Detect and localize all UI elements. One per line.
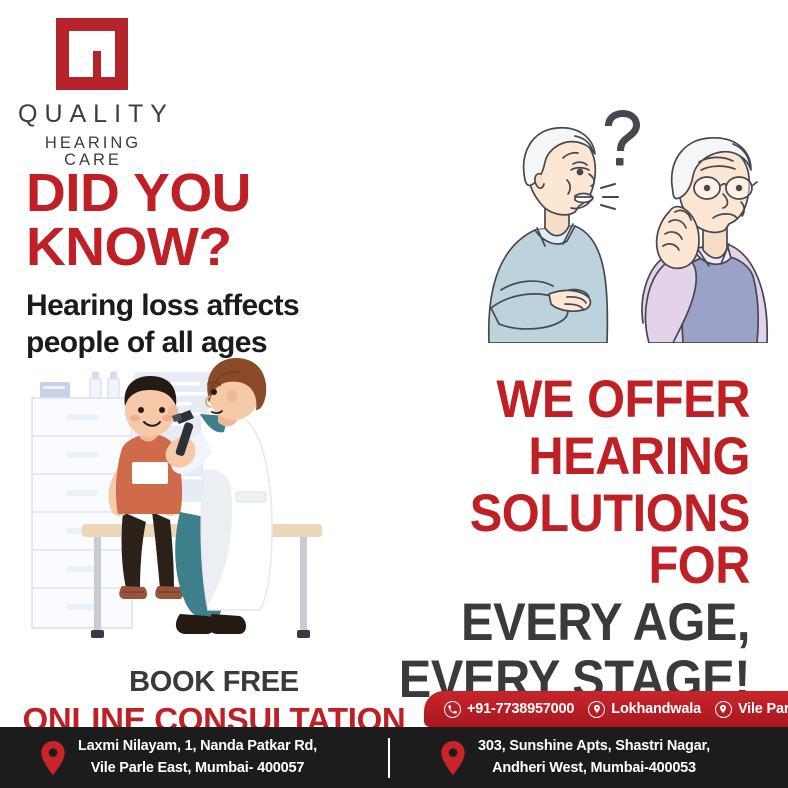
contact-phone-label: +91-7738957000	[467, 701, 574, 717]
doctor-examining-boy-ear-otoscope-illustration	[22, 352, 340, 664]
contact-location-1-label: Lokhandwala	[611, 701, 701, 717]
contact-phone[interactable]: +91-7738957000	[444, 701, 574, 718]
contact-bar: +91-7738957000 Lokhandwala Vile Parle	[424, 691, 788, 727]
contact-location-vile-parle[interactable]: Vile Parle	[715, 701, 788, 718]
footer-address-2-line2: Andheri West, Mumbai-400053	[478, 758, 710, 779]
footer-address-bar: Laxmi Nilayam, 1, Nanda Patkar Rd, Vile …	[0, 727, 788, 788]
headline-statement: Hearing loss affects people of all ages	[26, 288, 456, 361]
phone-icon	[444, 701, 461, 718]
offer-line-1: WE OFFER	[364, 374, 750, 426]
footer-address-1-text: Laxmi Nilayam, 1, Nanda Patkar Rd, Vile …	[78, 736, 317, 778]
footer-address-2-line1: 303, Sunshine Apts, Shastri Nagar,	[478, 736, 710, 757]
offer-line-4: EVERY AGE,	[364, 597, 750, 649]
poster-canvas: QUALITY HEARING CARE DID YOU KNOW? Heari…	[0, 0, 788, 788]
footer-address-2[interactable]: 303, Sunshine Apts, Shastri Nagar, Andhe…	[390, 736, 788, 778]
cta-block[interactable]: BOOK FREE ONLINE CONSULTATION	[14, 668, 414, 736]
footer-address-2-text: 303, Sunshine Apts, Shastri Nagar, Andhe…	[478, 736, 710, 778]
brand-wordmark: QUALITY HEARING CARE	[18, 102, 166, 168]
headline-statement-line1: Hearing loss affects	[26, 289, 299, 322]
headline-block: DID YOU KNOW? Hearing loss affects peopl…	[26, 166, 456, 361]
footer-address-1[interactable]: Laxmi Nilayam, 1, Nanda Patkar Rd, Vile …	[0, 736, 388, 778]
contact-location-lokhandwala[interactable]: Lokhandwala	[588, 701, 701, 718]
brand-logo[interactable]: QUALITY HEARING CARE	[18, 18, 218, 168]
footer-address-1-line2: Vile Parle East, Mumbai- 400057	[78, 758, 317, 779]
offer-message-block: WE OFFER HEARING SOLUTIONS FOR EVERY AGE…	[330, 374, 750, 706]
offer-line-3: SOLUTIONS FOR	[364, 488, 750, 592]
cta-line-1: BOOK FREE	[14, 668, 414, 697]
offer-line-2: HEARING	[364, 431, 750, 483]
location-pin-icon	[40, 741, 66, 775]
location-pin-icon	[715, 701, 732, 718]
location-pin-icon	[588, 701, 605, 718]
quality-hearing-care-square-mark-icon	[56, 18, 128, 90]
two-elderly-men-hearing-difficulty-illustration	[483, 108, 783, 343]
location-pin-icon	[440, 741, 466, 775]
footer-address-1-line1: Laxmi Nilayam, 1, Nanda Patkar Rd,	[78, 736, 317, 757]
brand-name-line1: QUALITY	[18, 102, 166, 127]
contact-location-2-label: Vile Parle	[738, 701, 788, 717]
headline-question: DID YOU KNOW?	[26, 166, 465, 274]
